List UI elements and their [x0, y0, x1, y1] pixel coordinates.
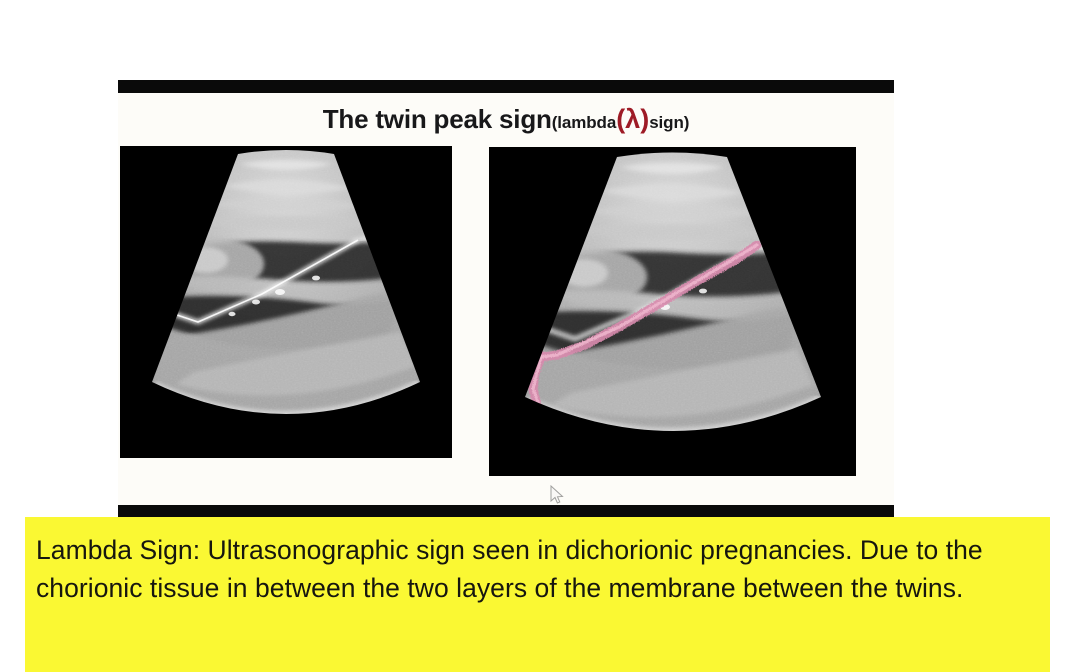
ultrasound-image-left — [120, 146, 452, 458]
slide-top-rule — [118, 80, 894, 93]
caption-text: Lambda Sign: Ultrasonographic sign seen … — [36, 531, 1030, 607]
slide-bottom-rule — [118, 505, 894, 517]
ultrasound-left-canvas — [120, 146, 452, 458]
slide-title-main: The twin peak sign — [323, 104, 552, 134]
slide-title-paren-close: sign) — [649, 113, 689, 132]
caption-band: Lambda Sign: Ultrasonographic sign seen … — [25, 517, 1050, 672]
lambda-symbol: (λ) — [616, 104, 649, 134]
slide-title-paren-open: (lambda — [552, 113, 616, 132]
ultrasound-image-right — [489, 147, 856, 476]
mouse-pointer-icon — [549, 485, 565, 505]
slide-title: The twin peak sign(lambda(λ)sign) — [118, 104, 894, 135]
ultrasound-right-canvas — [489, 147, 856, 476]
